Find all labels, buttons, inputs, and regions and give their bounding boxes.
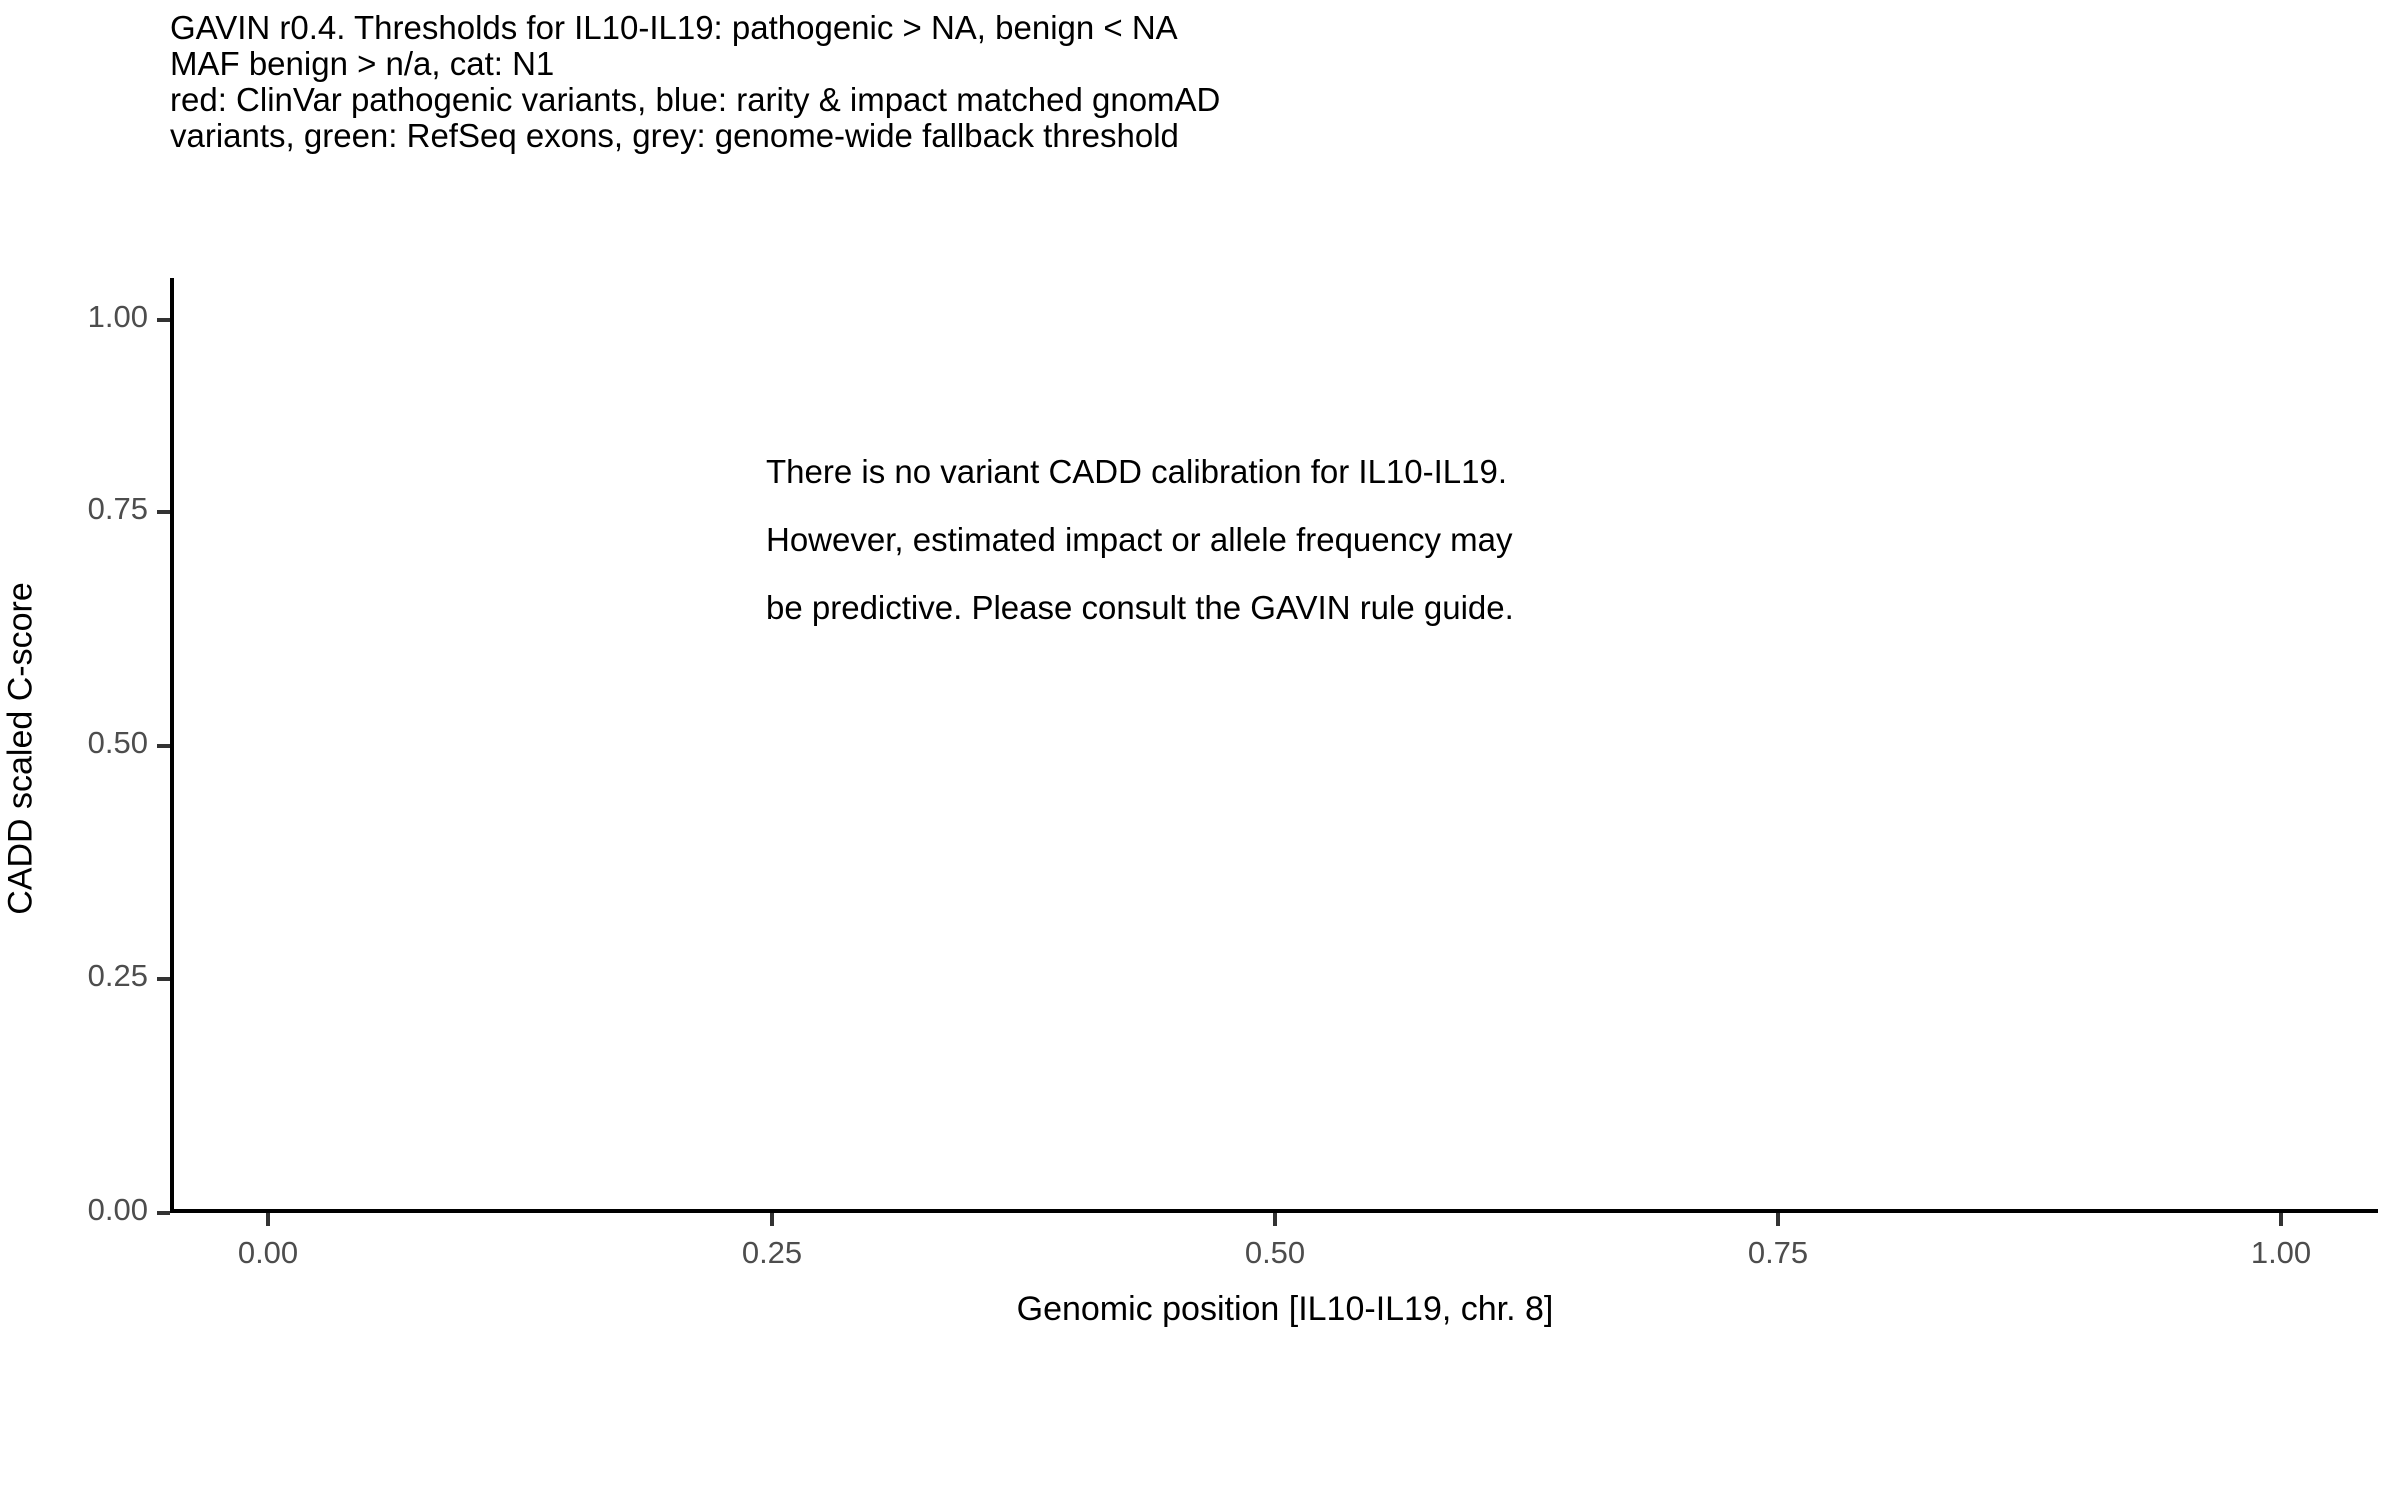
- plot-annotation-line-2: However, estimated impact or allele freq…: [766, 506, 1846, 574]
- y-tick-mark: [157, 744, 170, 748]
- x-tick-mark: [266, 1213, 270, 1226]
- y-tick-mark: [157, 510, 170, 514]
- y-tick-mark: [157, 318, 170, 322]
- y-tick-label: 0.00: [88, 1192, 148, 1228]
- y-tick-label: 0.75: [88, 491, 148, 527]
- plot-annotation-line-1: There is no variant CADD calibration for…: [766, 438, 1846, 506]
- x-tick-label: 0.75: [1658, 1235, 1898, 1271]
- plot-panel: 0.00 0.25 0.50 0.75 1.00 0.00 0.25 0.50 …: [170, 278, 2378, 1213]
- y-axis-line: [170, 278, 174, 1213]
- x-tick-mark: [2279, 1213, 2283, 1226]
- x-tick-label: 0.50: [1155, 1235, 1395, 1271]
- x-tick-mark: [1273, 1213, 1277, 1226]
- plot-title: GAVIN r0.4. Thresholds for IL10-IL19: pa…: [170, 10, 2170, 154]
- y-tick-mark: [157, 1211, 170, 1215]
- x-tick-mark: [770, 1213, 774, 1226]
- plot-title-line-3: red: ClinVar pathogenic variants, blue: …: [170, 82, 2170, 118]
- y-tick-mark: [157, 977, 170, 981]
- plot-title-line-1: GAVIN r0.4. Thresholds for IL10-IL19: pa…: [170, 10, 2170, 46]
- y-axis-title: CADD scaled C-score: [2, 0, 41, 1499]
- y-tick-label: 1.00: [88, 299, 148, 335]
- x-tick-mark: [1776, 1213, 1780, 1226]
- plot-title-line-4: variants, green: RefSeq exons, grey: gen…: [170, 118, 2170, 154]
- plot-annotation-line-3: be predictive. Please consult the GAVIN …: [766, 574, 1846, 642]
- x-tick-label: 0.25: [652, 1235, 892, 1271]
- x-axis-title: Genomic position [IL10-IL19, chr. 8]: [0, 1290, 2400, 1329]
- y-tick-label: 0.50: [88, 725, 148, 761]
- x-tick-label: 1.00: [2161, 1235, 2400, 1271]
- plot-annotation: There is no variant CADD calibration for…: [766, 438, 1846, 642]
- x-tick-label: 0.00: [148, 1235, 388, 1271]
- plot-title-line-2: MAF benign > n/a, cat: N1: [170, 46, 2170, 82]
- y-tick-label: 0.25: [88, 958, 148, 994]
